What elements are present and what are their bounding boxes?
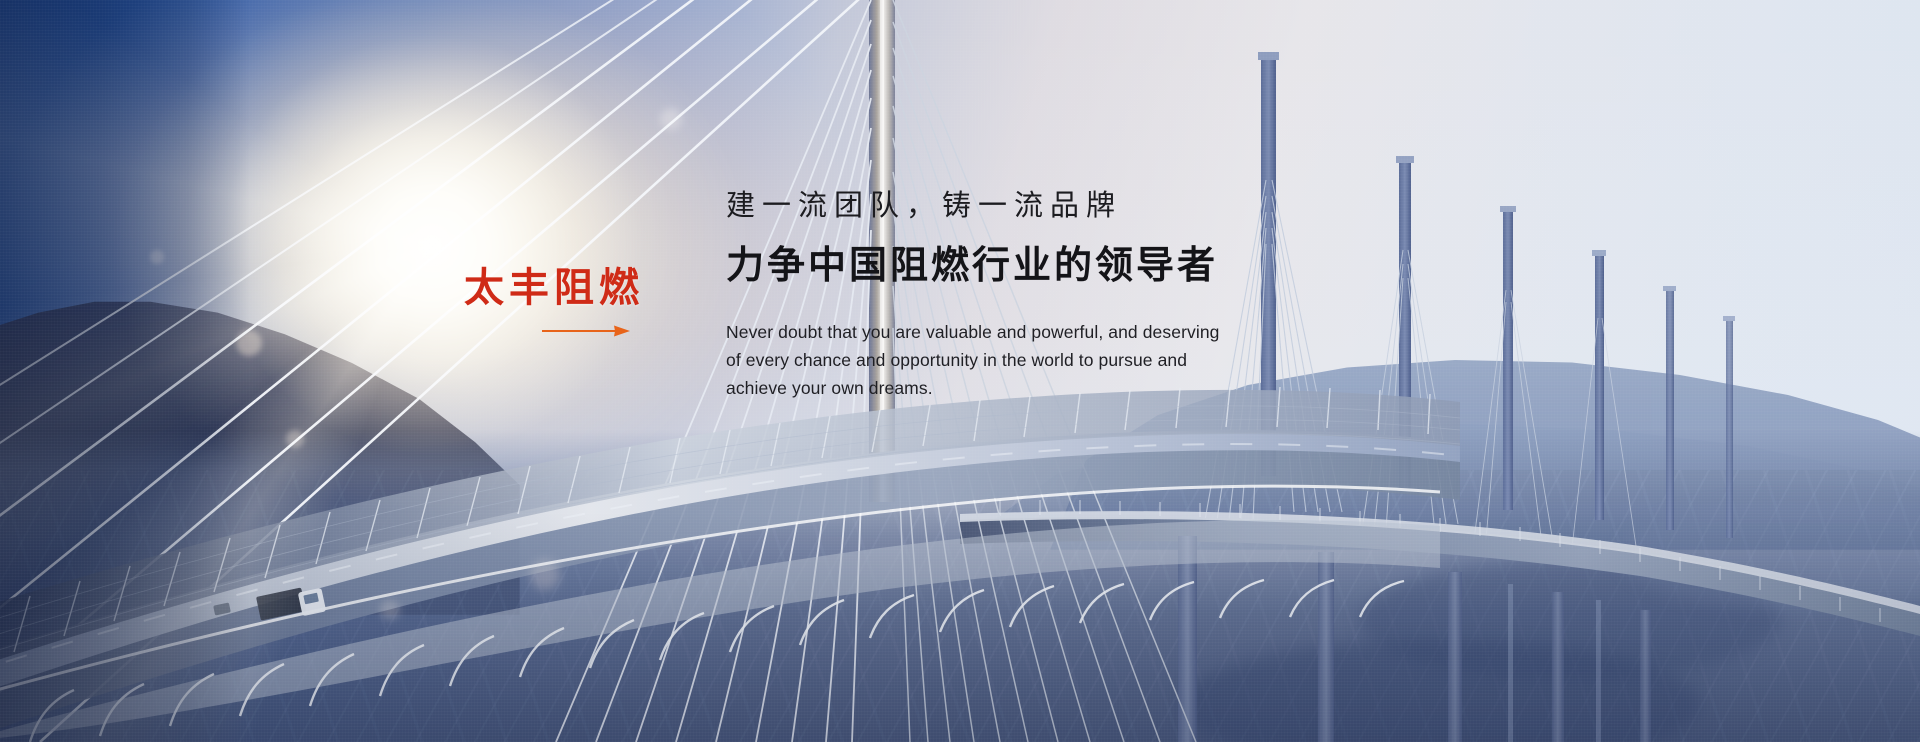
arrow-right-icon — [542, 324, 630, 337]
lens-flare — [660, 108, 682, 130]
brand-logo-text: 太丰阻燃 — [464, 268, 674, 308]
headline-secondary: 力争中国阻燃行业的领导者 — [726, 244, 1346, 288]
headline-primary: 建一流团队，铸一流品牌 — [726, 190, 1346, 222]
hero-subcopy: Never doubt that you are valuable and po… — [726, 318, 1346, 403]
hero-banner: 太丰阻燃 建一流团队，铸一流品牌 力争中国阻燃行业的领导者 Never doub… — [0, 0, 1920, 742]
lens-flare — [150, 250, 164, 264]
hero-copy: 建一流团队，铸一流品牌 力争中国阻燃行业的领导者 Never doubt tha… — [726, 190, 1346, 403]
lens-flare — [530, 560, 560, 590]
dark-hill-left — [0, 255, 520, 615]
brand-logo[interactable]: 太丰阻燃 — [464, 268, 674, 342]
